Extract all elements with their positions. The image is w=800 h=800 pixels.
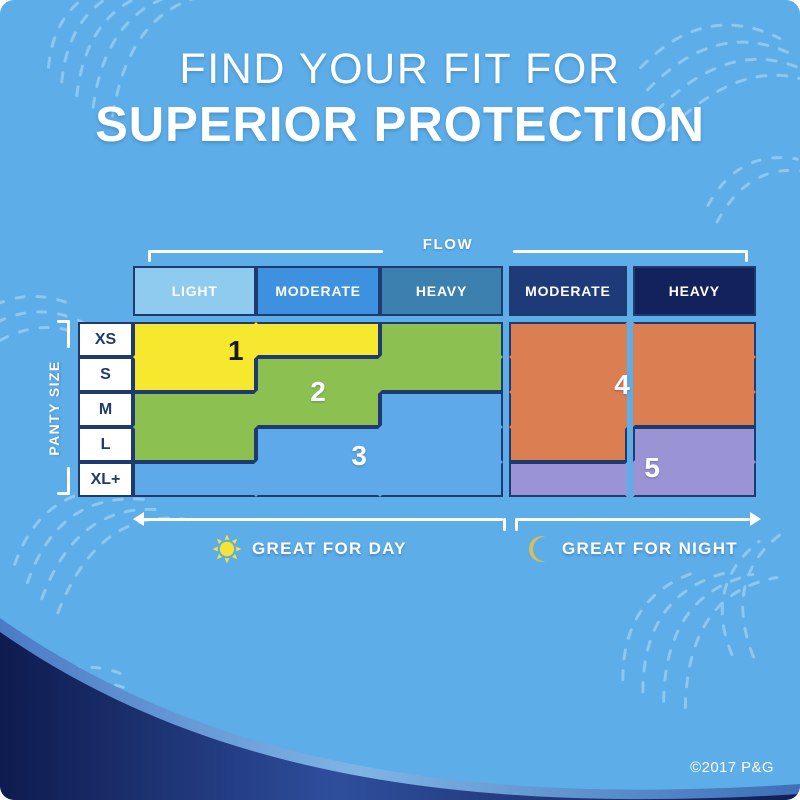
sun-icon <box>212 534 242 564</box>
row-label-text: L <box>101 436 111 454</box>
matrix-cell-zone-2[interactable] <box>380 357 503 392</box>
matrix-row-label-xs[interactable]: XS <box>78 322 133 357</box>
night-arrow-head <box>750 512 761 526</box>
flow-bracket-tick-right <box>745 250 748 262</box>
day-night-footer: GREAT FOR DAY GREAT FOR NIGHT <box>0 508 800 568</box>
copyright-notice: ©2017 P&G <box>690 759 774 776</box>
matrix-row-label-xlplus[interactable]: XL+ <box>78 462 133 497</box>
day-arrow-tick <box>503 518 506 531</box>
matrix-cell-zone-4[interactable] <box>509 322 626 357</box>
matrix-cell-zone-3[interactable] <box>380 392 503 427</box>
great-for-night-label: GREAT FOR NIGHT <box>562 539 738 559</box>
panty-size-axis-bracket: PANTY SIZE <box>34 320 74 495</box>
size-bracket-cap-bottom <box>57 492 70 495</box>
infographic-canvas: FIND YOUR FIT FOR SUPERIOR PROTECTION FL… <box>0 0 800 800</box>
matrix-cell-zone-2[interactable] <box>256 392 379 427</box>
matrix-cell-zone-4[interactable] <box>633 357 756 392</box>
night-arrow-line <box>515 518 750 521</box>
row-label-text: S <box>100 366 111 384</box>
matrix-cell-zone-4[interactable] <box>633 322 756 357</box>
bottom-wave-decoration <box>0 570 800 800</box>
matrix-cell-zone-2[interactable] <box>380 322 503 357</box>
matrix-cell-zone-5[interactable] <box>633 427 756 462</box>
great-for-night-group: GREAT FOR NIGHT <box>524 534 738 564</box>
matrix-cell-zone-2[interactable] <box>133 392 256 427</box>
matrix-cell-zone-1[interactable] <box>256 322 379 357</box>
flow-axis-label: FLOW <box>414 236 483 253</box>
size-bracket-bar-bottom <box>67 467 70 495</box>
column-header-label: HEAVY <box>416 283 467 299</box>
panty-size-axis-label: PANTY SIZE <box>46 360 62 455</box>
matrix-row-label-l[interactable]: L <box>78 427 133 462</box>
matrix-cell-zone-4[interactable] <box>509 392 626 427</box>
matrix-column-header-day-moderate[interactable]: MODERATE <box>256 266 379 316</box>
row-label-text: XL+ <box>91 471 121 489</box>
flow-bracket-bar-left <box>148 250 383 253</box>
matrix-cell-zone-1[interactable] <box>133 357 256 392</box>
matrix-column-header-night-moderate[interactable]: MODERATE <box>509 266 626 316</box>
matrix-row-label-s[interactable]: S <box>78 357 133 392</box>
matrix-cell-zone-3[interactable] <box>256 427 379 462</box>
row-label-text: M <box>99 401 112 419</box>
matrix-cell-zone-5[interactable] <box>509 462 626 497</box>
page-title: FIND YOUR FIT FOR SUPERIOR PROTECTION <box>0 44 800 154</box>
day-arrow-line <box>143 518 503 521</box>
matrix-cell-zone-4[interactable] <box>509 357 626 392</box>
great-for-day-group: GREAT FOR DAY <box>212 534 407 564</box>
flow-axis-bracket: FLOW <box>148 238 748 264</box>
matrix-cell-zone-4[interactable] <box>509 427 626 462</box>
matrix-cell-zone-1[interactable] <box>133 322 256 357</box>
matrix-cell-zone-3[interactable] <box>256 462 379 497</box>
headline-line-1: FIND YOUR FIT FOR <box>0 44 800 94</box>
matrix-cell-zone-3[interactable] <box>380 427 503 462</box>
matrix-cell-zone-5[interactable] <box>633 462 756 497</box>
matrix-column-header-day-heavy[interactable]: HEAVY <box>380 266 503 316</box>
matrix-cell-zone-2[interactable] <box>256 357 379 392</box>
column-header-label: LIGHT <box>172 283 218 299</box>
great-for-day-label: GREAT FOR DAY <box>252 539 407 559</box>
row-label-text: XS <box>95 331 116 349</box>
size-bracket-bar-top <box>67 320 70 348</box>
column-header-label: MODERATE <box>275 283 360 299</box>
moon-icon <box>524 534 552 564</box>
matrix-cell-zone-3[interactable] <box>380 462 503 497</box>
headline-line-2: SUPERIOR PROTECTION <box>0 96 800 154</box>
column-header-label: HEAVY <box>669 283 720 299</box>
matrix-cell-zone-2[interactable] <box>133 427 256 462</box>
matrix-cell-zone-4[interactable] <box>633 392 756 427</box>
matrix-column-header-night-heavy[interactable]: HEAVY <box>633 266 756 316</box>
matrix-column-header-day-light[interactable]: LIGHT <box>133 266 256 316</box>
matrix-row-label-m[interactable]: M <box>78 392 133 427</box>
matrix-cell-zone-3[interactable] <box>133 462 256 497</box>
column-header-label: MODERATE <box>525 283 610 299</box>
flow-bracket-bar-right <box>513 250 748 253</box>
